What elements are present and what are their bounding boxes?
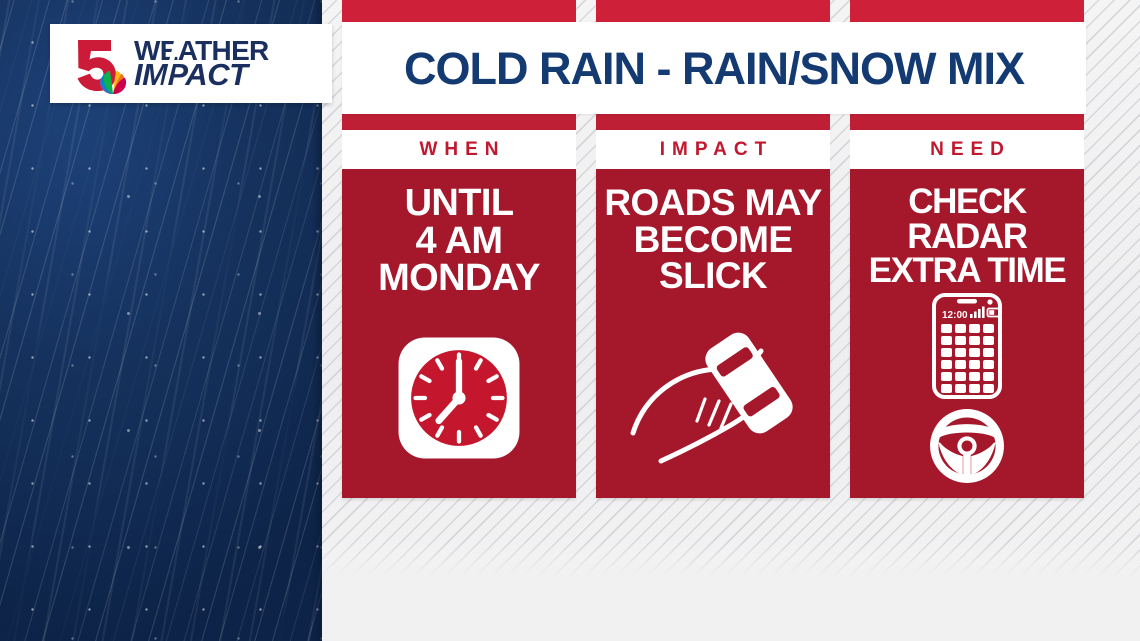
- weather-impact-wordmark: WEATHER IMPACT: [134, 39, 269, 89]
- card-text-line: MONDAY: [342, 260, 576, 298]
- card-text-line: RADAR: [850, 220, 1084, 255]
- steering-wheel-icon: [925, 404, 1009, 488]
- phone-app-grid: [941, 324, 994, 393]
- card-body-when: UNTIL 4 AM MONDAY: [342, 169, 576, 498]
- column-header-when: WHEN: [412, 140, 505, 159]
- card-text-line: 4 AM: [342, 223, 576, 261]
- card-header-strip: IMPACT: [596, 130, 830, 169]
- card-header-strip: WHEN: [342, 130, 576, 169]
- column-header-need: NEED: [923, 140, 1011, 159]
- battery-icon: [988, 309, 1000, 317]
- card-text-impact: ROADS MAY BECOME SLICK: [596, 185, 830, 295]
- skidding-car-icon: [621, 321, 806, 471]
- station-logo-bar: WEATHER IMPACT: [50, 24, 332, 103]
- card-top-red-bar: [596, 0, 830, 22]
- headline-text: COLD RAIN - RAIN/SNOW MIX: [404, 46, 1024, 91]
- card-icon-area-need: 12:00: [850, 283, 1084, 498]
- card-second-red-bar: [342, 114, 576, 130]
- column-header-impact: IMPACT: [653, 140, 773, 159]
- card-text-line: ROADS MAY: [596, 185, 830, 222]
- card-text-need: CHECK RADAR EXTRA TIME: [850, 185, 1084, 289]
- phone-status-time: 12:00: [942, 310, 968, 321]
- weather-impact-graphic: WHEN UNTIL 4 AM MONDAY: [0, 0, 1140, 641]
- card-body-need: CHECK RADAR EXTRA TIME 12:00: [850, 169, 1084, 498]
- card-text-line: SLICK: [596, 258, 830, 295]
- card-icon-area-when: [342, 298, 576, 498]
- card-text-line: CHECK: [850, 185, 1084, 220]
- card-text-when: UNTIL 4 AM MONDAY: [342, 185, 576, 298]
- channel-5-logo: [66, 35, 124, 93]
- card-text-line: BECOME: [596, 222, 830, 259]
- card-top-red-bar: [850, 0, 1084, 22]
- card-second-red-bar: [596, 114, 830, 130]
- card-body-impact: ROADS MAY BECOME SLICK: [596, 169, 830, 498]
- signal-bars-icon: [970, 307, 985, 319]
- background-hatch-fade: [320, 540, 1140, 641]
- alarm-clock-icon: [396, 335, 522, 461]
- card-header-strip: NEED: [850, 130, 1084, 169]
- smartphone-icon: 12:00: [931, 292, 1003, 400]
- logo-impact-text: IMPACT: [134, 61, 269, 88]
- card-second-red-bar: [850, 114, 1084, 130]
- nbc-peacock-icon: [96, 67, 130, 95]
- card-icon-area-impact: [596, 295, 830, 498]
- card-top-red-bar: [342, 0, 576, 22]
- headline-banner: COLD RAIN - RAIN/SNOW MIX: [342, 22, 1086, 114]
- card-text-line: UNTIL: [342, 185, 576, 223]
